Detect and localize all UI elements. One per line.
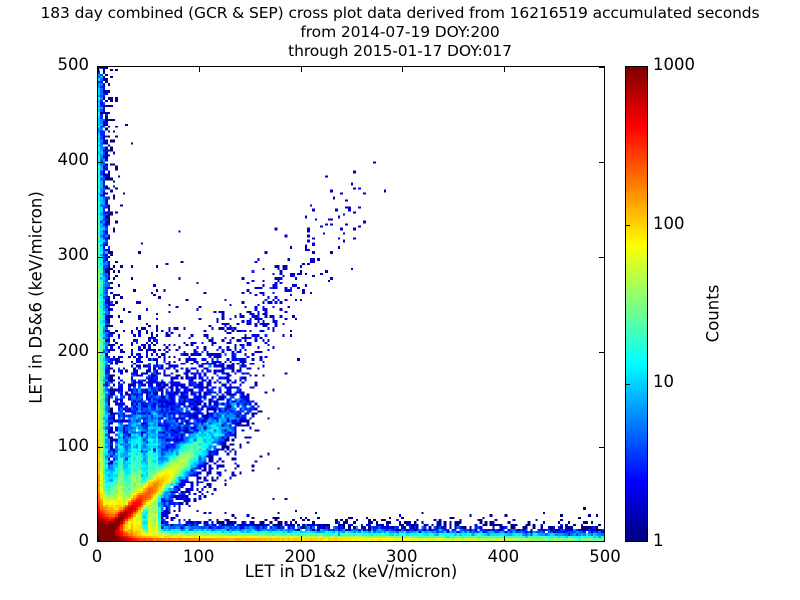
y-tick-right-200 [599,352,604,353]
colorbar-tick-100 [626,225,630,226]
y-tick-label-500: 500 [29,55,89,74]
colorbar-tick-10 [626,384,630,385]
y-tick-right-500 [599,66,604,67]
title-line-2: from 2014-07-19 DOY:200 [0,23,800,42]
x-tick-200 [301,536,302,541]
x-axis-label: LET in D1&2 (keV/micron) [97,562,605,581]
x-tick-top-0 [97,67,98,72]
x-tick-top-200 [301,67,302,72]
y-tick-400 [98,162,103,163]
y-tick-right-300 [599,257,604,258]
colorbar-tick-label-10: 10 [653,372,674,391]
title-line-1: 183 day combined (GCR & SEP) cross plot … [0,4,800,23]
colorbar-tick-label-100: 100 [653,214,685,233]
x-tick-top-100 [199,67,200,72]
y-tick-500 [98,66,103,67]
y-tick-right-400 [599,162,604,163]
colorbar-label: Counts [704,229,723,399]
y-tick-right-100 [599,447,604,448]
colorbar [625,66,648,542]
x-tick-400 [504,536,505,541]
y-tick-200 [98,352,103,353]
y-tick-300 [98,257,103,258]
y-tick-100 [98,447,103,448]
scatter-density-canvas [98,67,604,541]
x-tick-0 [97,536,98,541]
x-tick-top-400 [504,67,505,72]
colorbar-tick-label-1: 1 [653,531,664,550]
colorbar-tick-label-1000: 1000 [653,55,695,74]
plot-axes [97,66,605,542]
x-tick-100 [199,536,200,541]
x-tick-300 [402,536,403,541]
x-tick-top-300 [402,67,403,72]
chart-title: 183 day combined (GCR & SEP) cross plot … [0,4,800,61]
colorbar-gradient [626,67,647,541]
figure: 183 day combined (GCR & SEP) cross plot … [0,0,800,600]
y-axis-label: LET in D5&6 (keV/micron) [27,133,46,463]
